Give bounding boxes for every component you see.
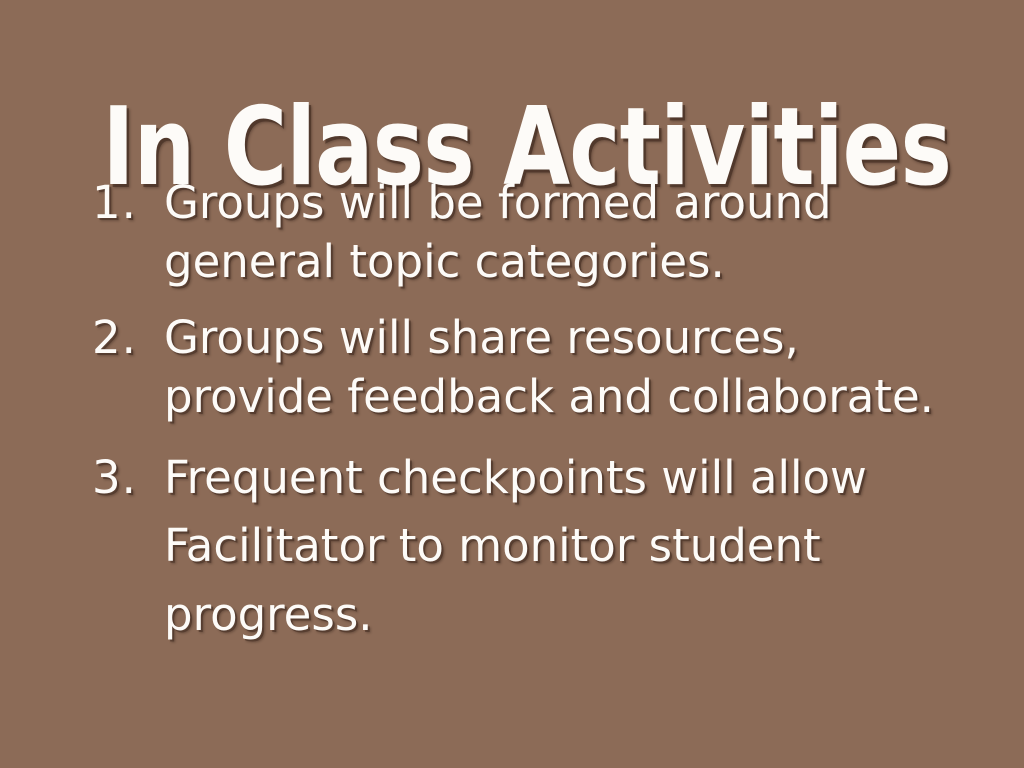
- list-item-text: Groups will be formed around general top…: [164, 174, 1022, 291]
- numbered-list: 1. Groups will be formed around general …: [52, 174, 1022, 649]
- list-item-text: Groups will share resources, provide fee…: [164, 309, 1022, 426]
- list-item-line: general topic categories.: [164, 233, 1022, 292]
- list-item-marker: 1.: [92, 174, 164, 233]
- list-item-marker: 2.: [92, 309, 164, 368]
- list-item-marker: 3.: [92, 444, 164, 512]
- list-item-text: Frequent checkpoints will allow Facilita…: [164, 444, 1022, 649]
- list-item-line: Facilitator to monitor student: [164, 512, 1022, 580]
- list-item: 1. Groups will be formed around general …: [92, 174, 1022, 291]
- list-item: 2. Groups will share resources, provide …: [92, 309, 1022, 426]
- list-item: 3. Frequent checkpoints will allow Facil…: [92, 444, 1022, 649]
- list-item-line: progress.: [164, 581, 1022, 649]
- list-item-line: Frequent checkpoints will allow: [164, 444, 1022, 512]
- list-item-line: provide feedback and collaborate.: [164, 368, 1022, 427]
- list-item-line: Groups will be formed around: [164, 174, 1022, 233]
- slide-canvas: In Class Activities 1. Groups will be fo…: [0, 0, 1024, 768]
- list-item-line: Groups will share resources,: [164, 309, 1022, 368]
